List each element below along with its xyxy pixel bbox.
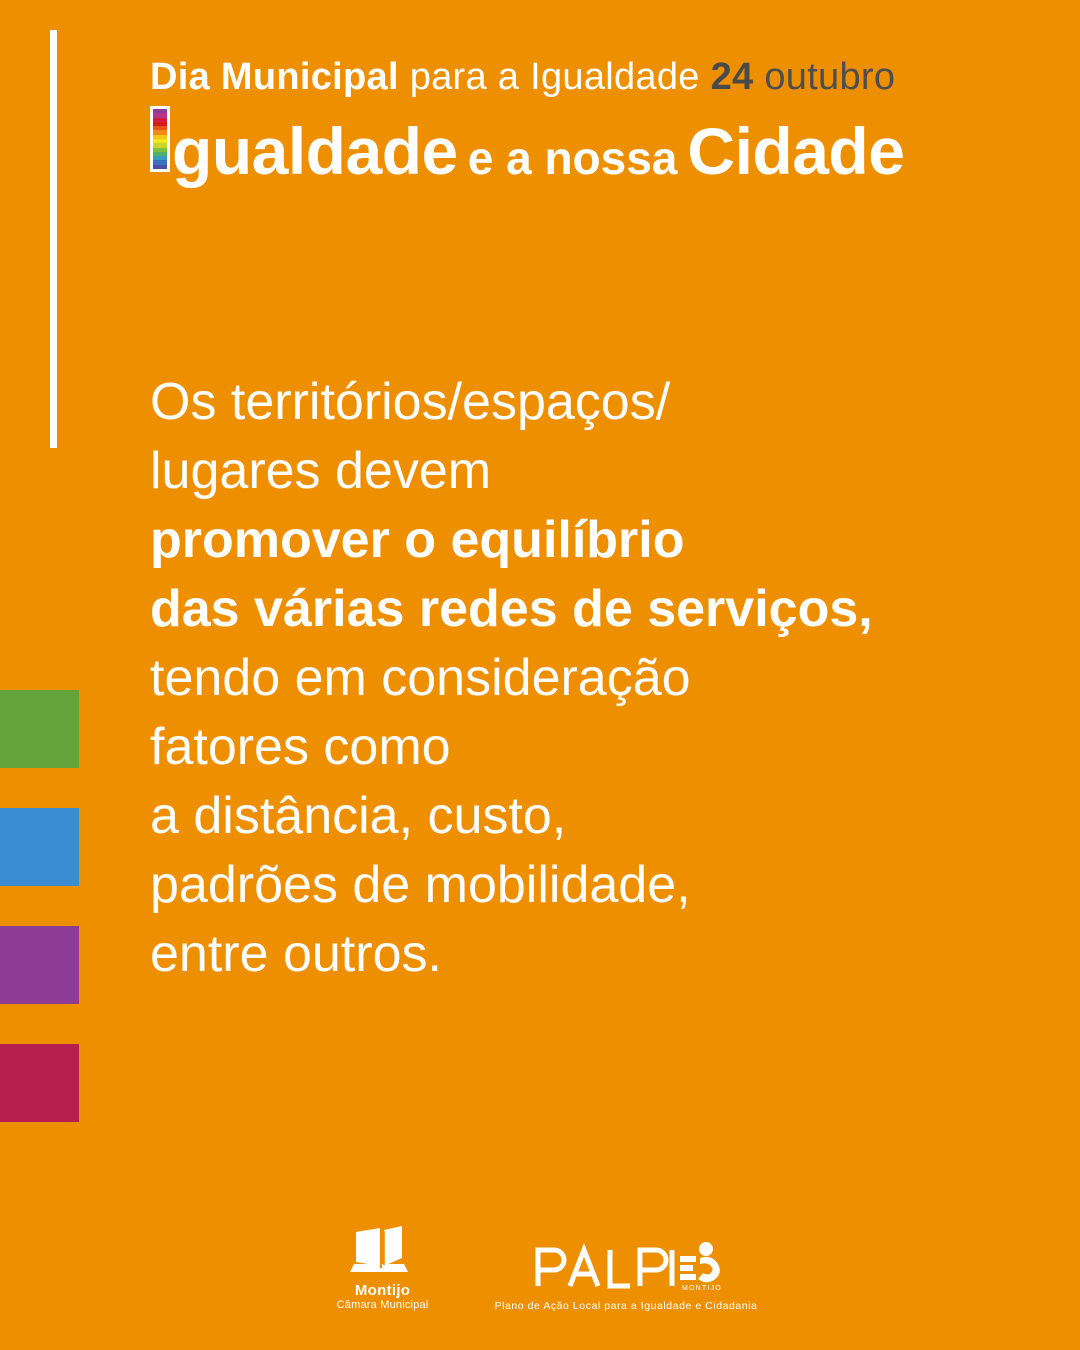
kicker-date-number: 24	[711, 56, 754, 98]
montijo-name: Montijo	[355, 1282, 410, 1299]
logo-montijo: Montijo Câmara Municipal	[323, 1224, 443, 1312]
statement-line: Os territórios/espaços/	[150, 368, 1010, 437]
statement-line: padrões de mobilidade,	[150, 851, 1010, 920]
statement-line: tendo em consideração	[150, 644, 1010, 713]
kicker-month: outubro	[764, 56, 895, 98]
kicker-bold-text: Dia Municipal	[150, 56, 399, 98]
color-swatch-blue	[0, 808, 79, 886]
palpic-wordmark-icon: MONTIJO	[530, 1240, 722, 1297]
headline: gualdade e a nossa Cidade	[150, 108, 1030, 191]
rainbow-letter-i-icon	[150, 106, 170, 172]
svg-text:MONTIJO: MONTIJO	[682, 1285, 722, 1292]
logo-palpic: MONTIJO Plano de Ação Local para a Igual…	[495, 1240, 758, 1312]
headline-word-igualdade: gualdade	[172, 118, 458, 184]
palpic-tagline: Plano de Ação Local para a Igualdade e C…	[495, 1300, 758, 1312]
footer-logos: Montijo Câmara Municipal	[0, 1224, 1080, 1312]
header: Dia Municipal para a Igualdade 24 outubr…	[150, 52, 1030, 191]
left-vertical-rule	[50, 30, 57, 448]
statement-line: a distância, custo,	[150, 782, 1010, 851]
headline-word-cidade: Cidade	[687, 118, 904, 184]
montijo-book-icon	[350, 1224, 416, 1278]
color-swatch-green	[0, 690, 79, 768]
color-swatch-purple	[0, 926, 79, 1004]
kicker-line: Dia Municipal para a Igualdade 24 outubr…	[150, 52, 1030, 102]
montijo-subtitle: Câmara Municipal	[337, 1299, 429, 1312]
statement-line: entre outros.	[150, 920, 1010, 989]
statement-line: fatores como	[150, 713, 1010, 782]
statement-line: promover o equilíbrio	[150, 506, 1010, 575]
color-swatch-crimson	[0, 1044, 79, 1122]
kicker-regular-text: para a Igualdade	[410, 56, 700, 98]
statement-line: lugares devem	[150, 437, 1010, 506]
statement-line: das várias redes de serviços,	[150, 575, 1010, 644]
main-statement: Os territórios/espaços/lugares devemprom…	[150, 368, 1010, 989]
headline-word-e-a-nossa: e a nossa	[458, 125, 688, 191]
